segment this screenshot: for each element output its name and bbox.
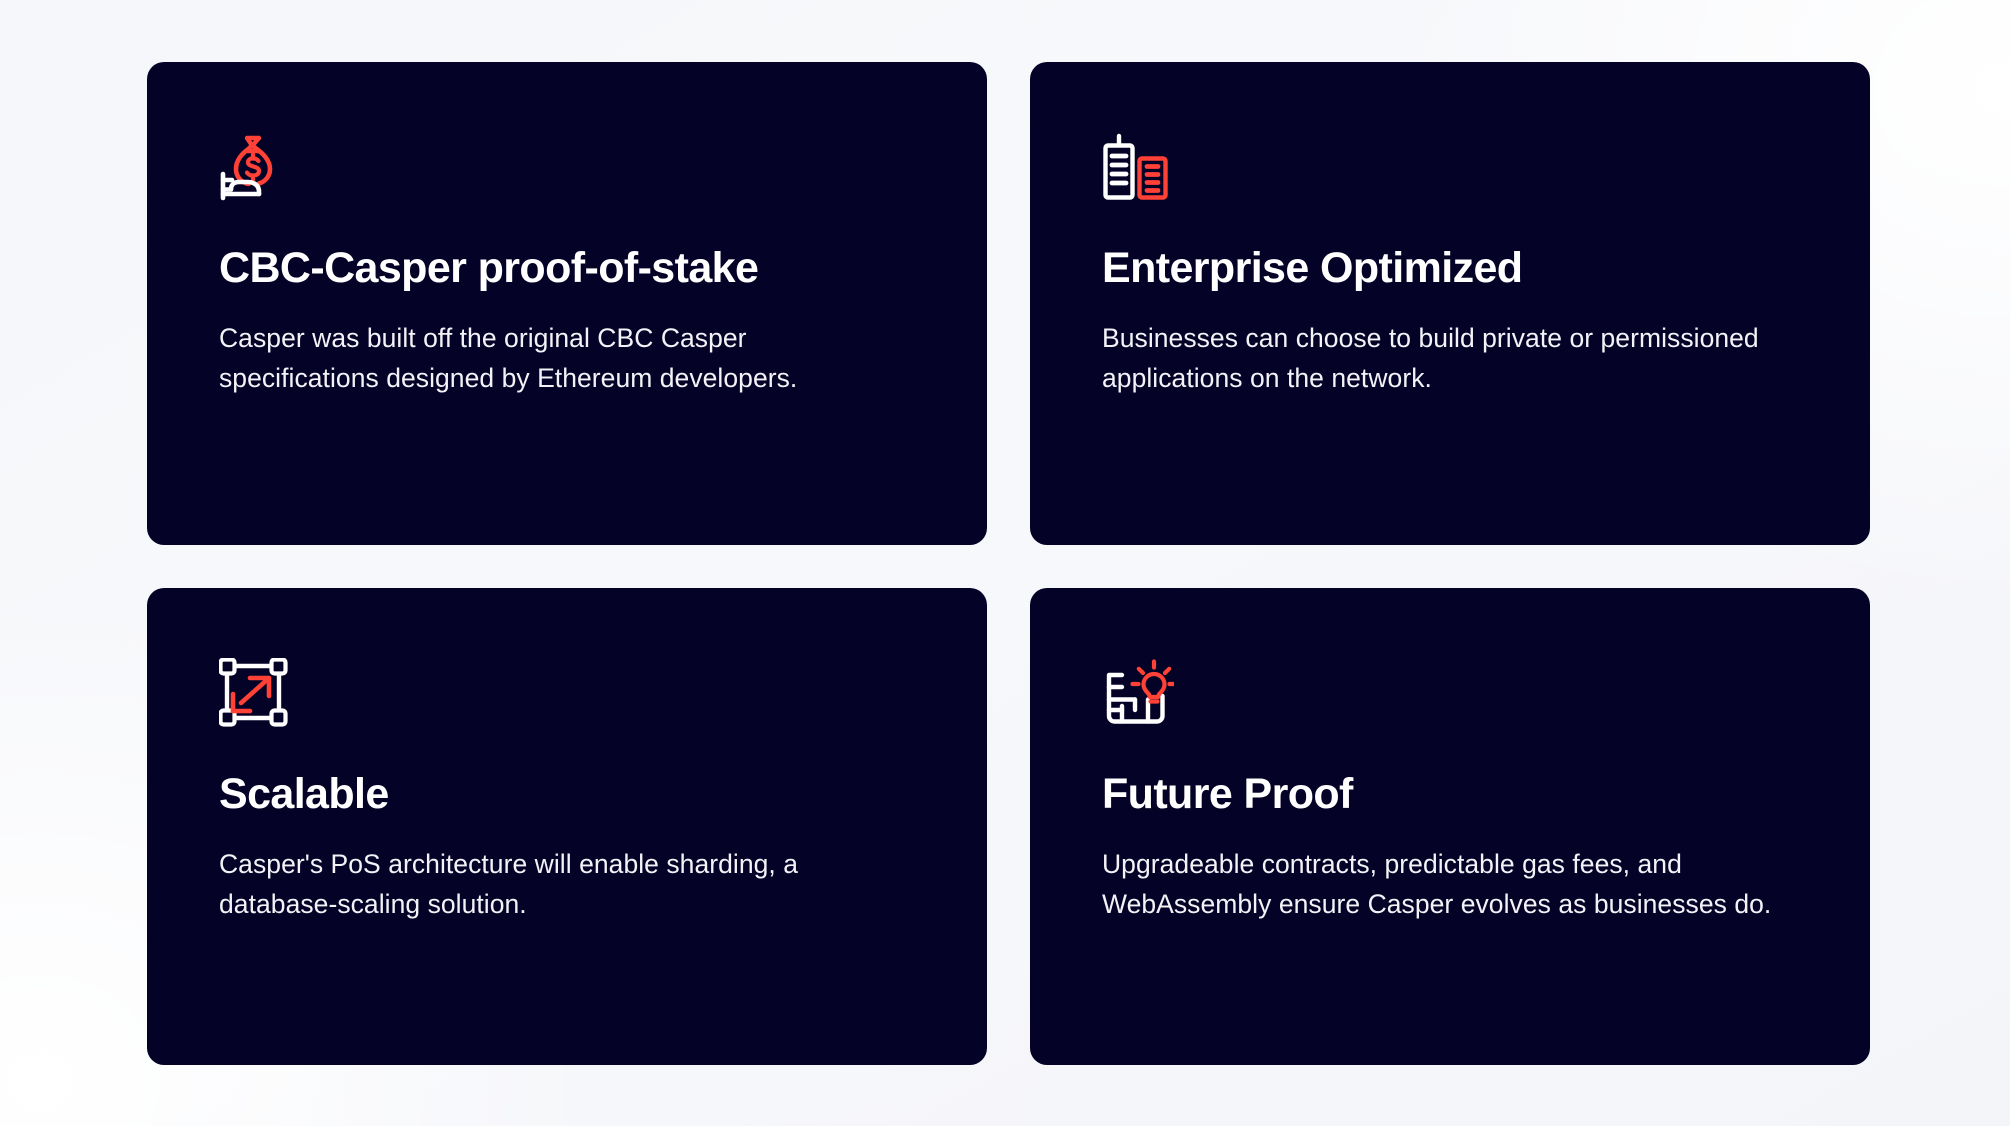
office-buildings-icon	[1102, 132, 1174, 204]
feature-card-description: Businesses can choose to build private o…	[1102, 318, 1792, 399]
feature-card-title: Scalable	[219, 772, 915, 817]
features-page: CBC-Casper proof-of-stake Casper was bui…	[0, 0, 2010, 1126]
feature-card-title: Future Proof	[1102, 772, 1798, 817]
feature-card-future-proof[interactable]: Future Proof Upgradeable contracts, pred…	[1030, 588, 1870, 1065]
features-grid: CBC-Casper proof-of-stake Casper was bui…	[147, 62, 1870, 1065]
feature-card-description: Casper was built off the original CBC Ca…	[219, 318, 909, 399]
blueprint-lightbulb-icon	[1102, 658, 1174, 730]
feature-card-description: Casper's PoS architecture will enable sh…	[219, 844, 909, 925]
feature-card-cbc-casper[interactable]: CBC-Casper proof-of-stake Casper was bui…	[147, 62, 987, 545]
scale-arrow-icon	[219, 658, 291, 730]
feature-card-scalable[interactable]: Scalable Casper's PoS architecture will …	[147, 588, 987, 1065]
feature-card-enterprise-optimized[interactable]: Enterprise Optimized Businesses can choo…	[1030, 62, 1870, 545]
feature-card-description: Upgradeable contracts, predictable gas f…	[1102, 844, 1798, 925]
money-bag-bed-icon	[219, 132, 291, 204]
feature-card-title: Enterprise Optimized	[1102, 246, 1798, 291]
feature-card-title: CBC-Casper proof-of-stake	[219, 246, 915, 291]
